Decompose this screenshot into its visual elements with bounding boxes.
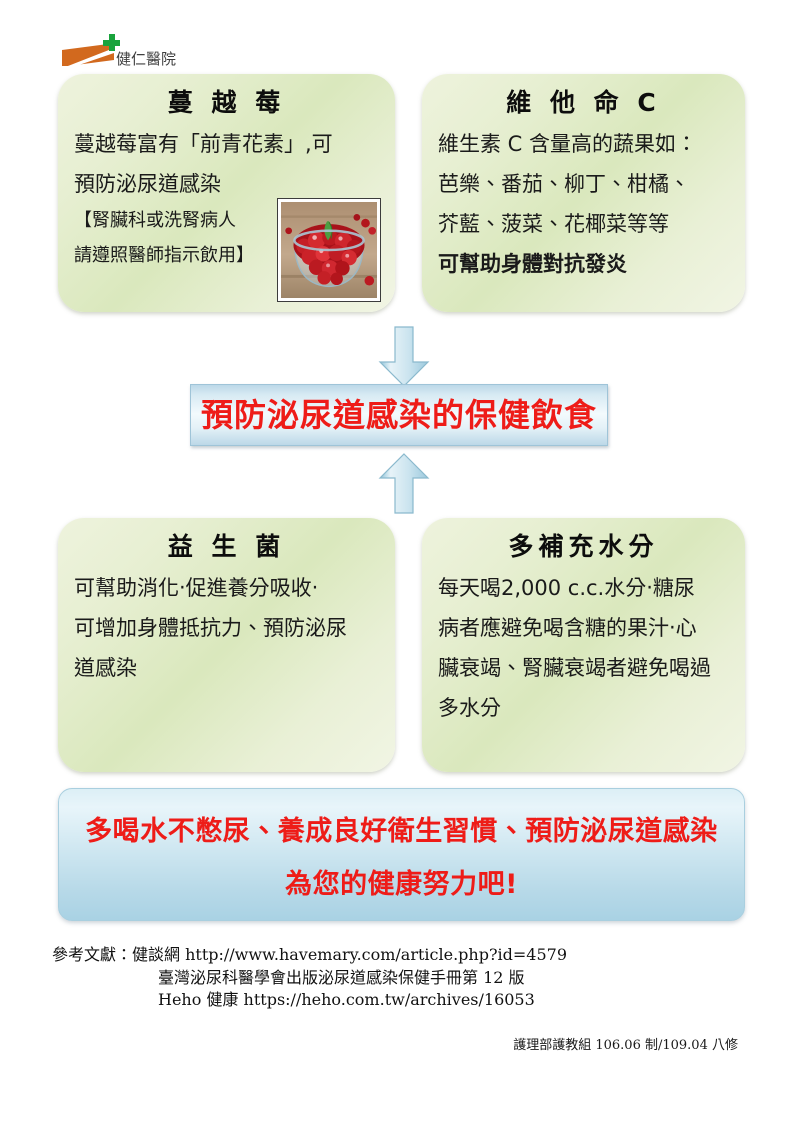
reference-line-3: Heho 健康 https://heho.com.tw/archives/160… — [52, 989, 752, 1012]
cranberry-note-2: 請遵照醫師指示飲用】 — [74, 239, 379, 274]
reference-line-2: 臺灣泌尿科醫學會出版泌尿道感染保健手冊第 12 版 — [52, 967, 752, 990]
footer-credit: 護理部護教組 106.06 制/109.04 八修 — [0, 1034, 738, 1053]
hospital-logo: 健仁醫院 — [62, 28, 362, 68]
reference-line-1: 參考文獻：健談網 http://www.havemary.com/article… — [52, 944, 752, 967]
card-probiotics: 益 生 菌 可幫助消化‧促進養分吸收‧ 可增加身體抵抗力、預防泌尿 道感染 — [58, 518, 395, 772]
logo-mark — [62, 34, 120, 68]
probiotics-line-3: 道感染 — [74, 648, 379, 688]
card-vitamin-c-title: 維 他 命 C — [438, 84, 729, 122]
up-arrow-icon — [378, 452, 430, 514]
cranberry-note-1: 【腎臟科或洗腎病人 — [74, 204, 379, 239]
references-block: 參考文獻：健談網 http://www.havemary.com/article… — [52, 944, 752, 1012]
card-cranberry-body: 蔓越莓富有「前青花素」,可 預防泌尿道感染 【腎臟科或洗腎病人 請遵照醫師指示飲… — [74, 124, 379, 274]
card-vitamin-c-body: 維生素 C 含量高的蔬果如： 芭樂、番茄、柳丁、柑橘、 芥藍、菠菜、花椰菜等等 … — [438, 124, 729, 285]
card-cranberry-title: 蔓 越 莓 — [74, 84, 379, 122]
vitc-line-1: 維生素 C 含量高的蔬果如： — [438, 124, 729, 164]
slogan-line-2: 為您的健康努力吧! — [285, 871, 518, 898]
card-water-title: 多補充水分 — [438, 528, 729, 566]
card-water-body: 每天喝2,000 c.c.水分‧糖尿 病者應避免喝含糖的果汁‧心 臟衰竭、腎臟衰… — [438, 568, 729, 729]
water-line-3: 臟衰竭、腎臟衰竭者避免喝過 — [438, 648, 729, 688]
water-line-4: 多水分 — [438, 688, 729, 728]
cranberry-line-1: 蔓越莓富有「前青花素」,可 — [74, 124, 379, 164]
down-arrow-icon — [378, 326, 430, 388]
cranberry-line-2: 預防泌尿道感染 — [74, 164, 379, 204]
main-title-text: 預防泌尿道感染的保健飲食 — [201, 399, 597, 431]
card-cranberry: 蔓 越 莓 蔓越莓富有「前青花素」,可 預防泌尿道感染 【腎臟科或洗腎病人 請遵… — [58, 74, 395, 312]
card-vitamin-c: 維 他 命 C 維生素 C 含量高的蔬果如： 芭樂、番茄、柳丁、柑橘、 芥藍、菠… — [422, 74, 745, 312]
slogan-banner: 多喝水不憋尿、養成良好衛生習慣、預防泌尿道感染 為您的健康努力吧! — [58, 788, 745, 921]
probiotics-line-2: 可增加身體抵抗力、預防泌尿 — [74, 608, 379, 648]
water-line-1: 每天喝2,000 c.c.水分‧糖尿 — [438, 568, 729, 608]
card-probiotics-body: 可幫助消化‧促進養分吸收‧ 可增加身體抵抗力、預防泌尿 道感染 — [74, 568, 379, 689]
hospital-name-label: 健仁醫院 — [116, 52, 176, 67]
card-water-intake: 多補充水分 每天喝2,000 c.c.水分‧糖尿 病者應避免喝含糖的果汁‧心 臟… — [422, 518, 745, 772]
probiotics-line-1: 可幫助消化‧促進養分吸收‧ — [74, 568, 379, 608]
water-line-2: 病者應避免喝含糖的果汁‧心 — [438, 608, 729, 648]
green-cross-icon — [103, 34, 120, 51]
vitc-bold-line: 可幫助身體對抗發炎 — [438, 244, 729, 284]
vitc-line-2: 芭樂、番茄、柳丁、柑橘、 — [438, 164, 729, 204]
vitc-line-3: 芥藍、菠菜、花椰菜等等 — [438, 204, 729, 244]
slogan-line-1: 多喝水不憋尿、養成良好衛生習慣、預防泌尿道感染 — [85, 818, 718, 845]
card-probiotics-title: 益 生 菌 — [74, 528, 379, 566]
main-title-banner: 預防泌尿道感染的保健飲食 — [190, 384, 608, 446]
